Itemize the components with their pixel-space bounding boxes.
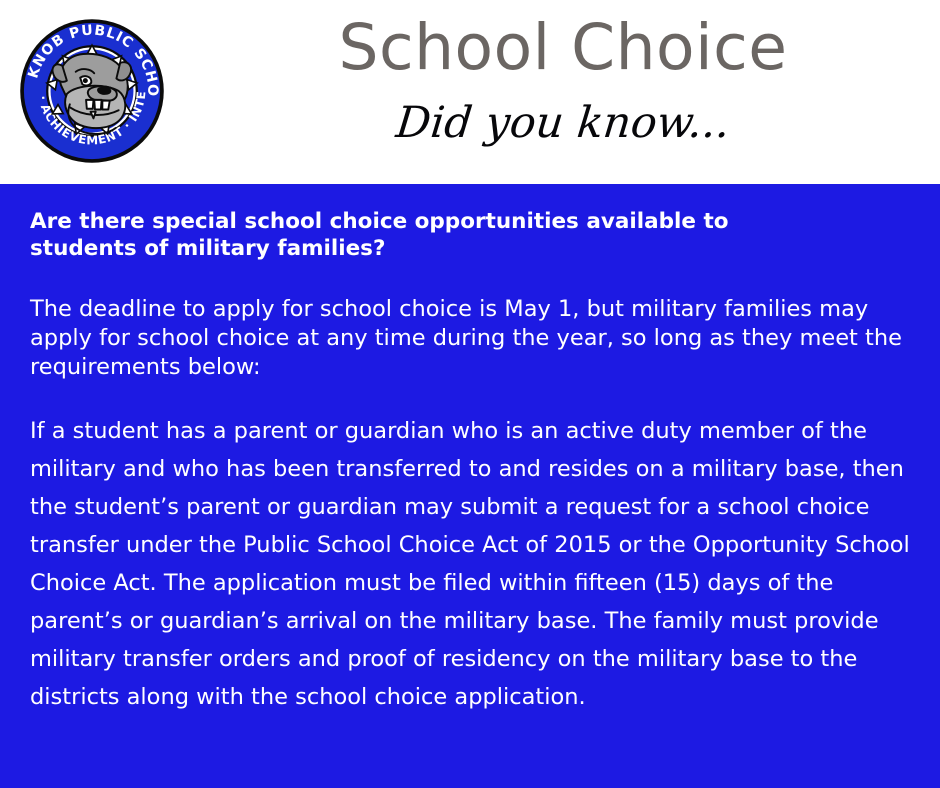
question-heading: Are there special school choice opportun… <box>30 208 820 262</box>
page-title: School Choice <box>186 10 940 86</box>
answer-paragraph-1: The deadline to apply for school choice … <box>30 295 906 382</box>
content-body: Are there special school choice opportun… <box>30 208 914 716</box>
flyer-header: BALD KNOB PUBLIC SCHOOLS PRIDE · ACHIEVE… <box>0 0 940 184</box>
content-panel: Are there special school choice opportun… <box>0 184 940 788</box>
school-choice-flyer: BALD KNOB PUBLIC SCHOOLS PRIDE · ACHIEVE… <box>0 0 940 788</box>
school-logo: BALD KNOB PUBLIC SCHOOLS PRIDE · ACHIEVE… <box>18 17 166 165</box>
header-titles: School Choice Did you know... <box>186 0 940 184</box>
page-subtitle: Did you know... <box>183 92 940 154</box>
answer-paragraph-2: If a student has a parent or guardian wh… <box>30 412 914 716</box>
